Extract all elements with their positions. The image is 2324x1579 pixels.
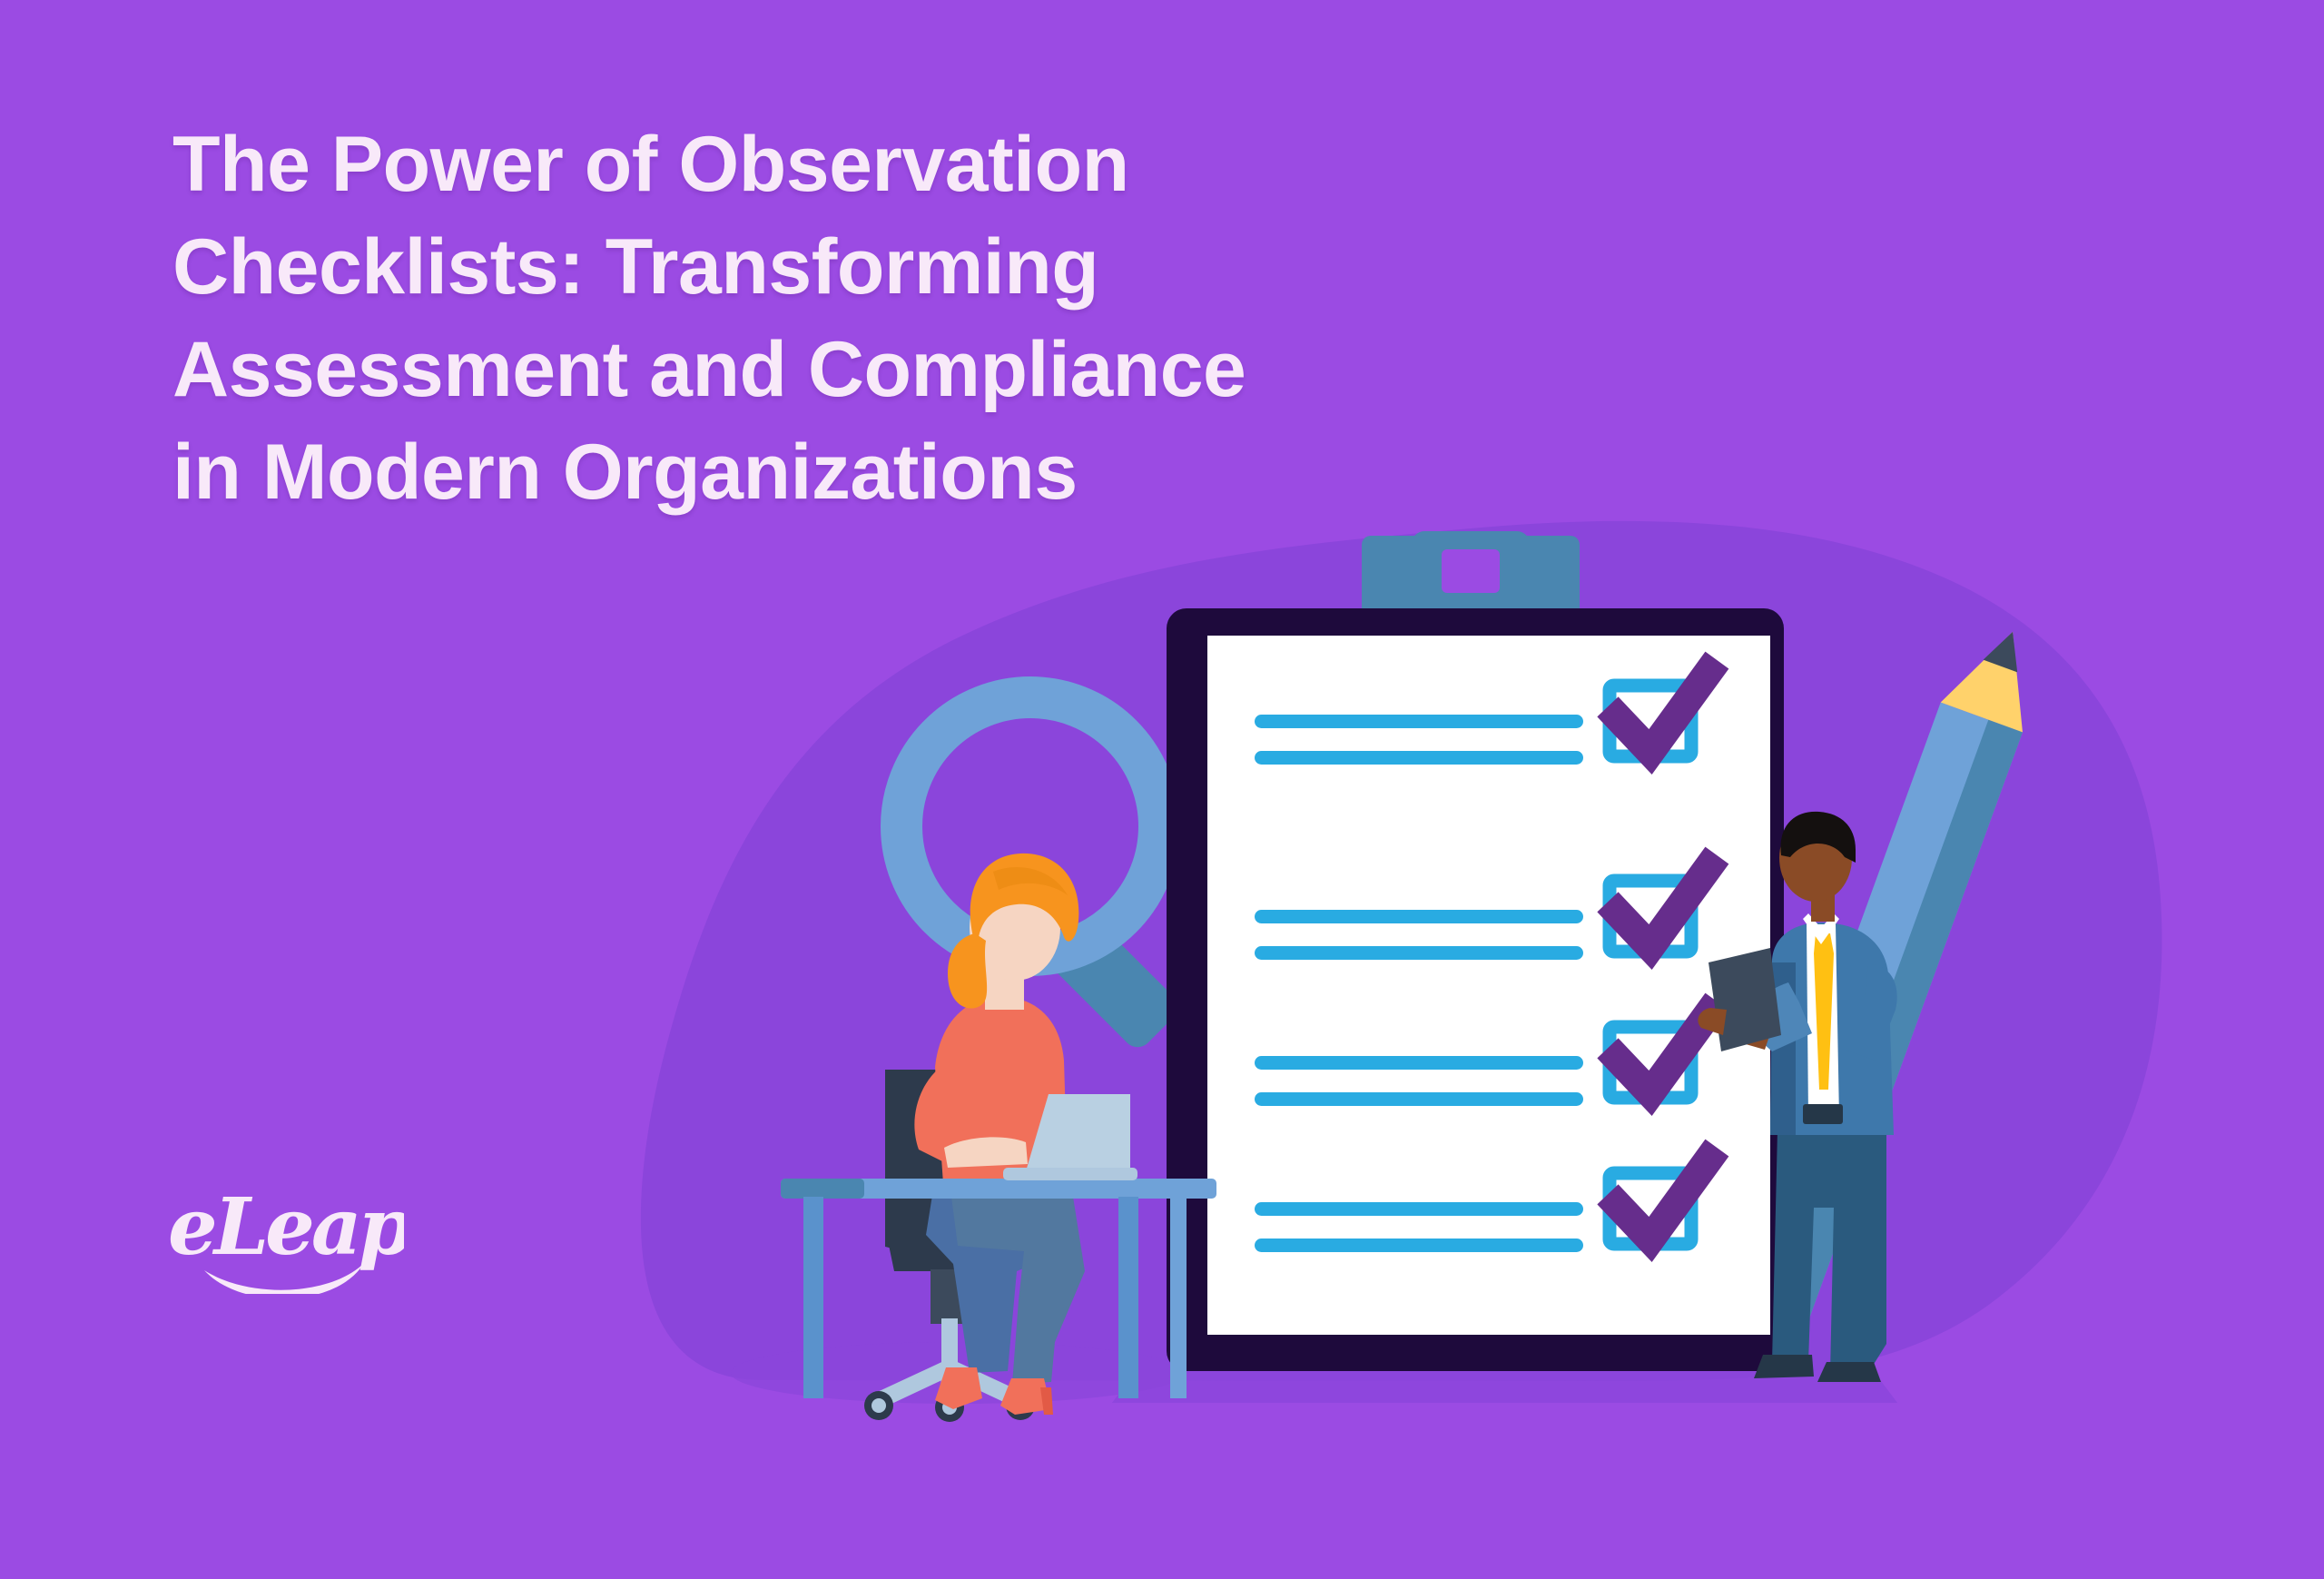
eleap-wordmark: eLeap bbox=[168, 1181, 404, 1273]
title-line-2: Checklists: Transforming bbox=[172, 216, 1589, 319]
man-belt bbox=[1803, 1104, 1843, 1124]
checklist-line bbox=[1255, 946, 1583, 960]
brand-logo[interactable]: eLeap bbox=[168, 1167, 404, 1294]
laptop-base bbox=[1003, 1168, 1137, 1180]
chair-wheel-hub bbox=[871, 1398, 886, 1413]
man-shoe-left bbox=[1754, 1355, 1814, 1378]
desk-leg bbox=[1170, 1197, 1187, 1398]
hero-banner: The Power of Observation Checklists: Tra… bbox=[0, 0, 2324, 1579]
man-shoe-right bbox=[1817, 1362, 1881, 1382]
eleap-logo-icon: eLeap bbox=[168, 1167, 404, 1294]
desk-leg bbox=[803, 1197, 823, 1398]
page-title: The Power of Observation Checklists: Tra… bbox=[172, 113, 1589, 524]
checklist-line bbox=[1255, 910, 1583, 923]
checklist-line bbox=[1255, 1056, 1583, 1070]
title-line-3: Assessment and Compliance bbox=[172, 319, 1589, 421]
checklist-line bbox=[1255, 715, 1583, 728]
checklist-line bbox=[1255, 1092, 1583, 1106]
title-line-4: in Modern Organizations bbox=[172, 421, 1589, 524]
desk-top-edge bbox=[781, 1179, 864, 1199]
checklist-line bbox=[1255, 1239, 1583, 1252]
clipboard bbox=[1167, 531, 1784, 1371]
checklist-line bbox=[1255, 1202, 1583, 1216]
title-line-1: The Power of Observation bbox=[172, 113, 1589, 216]
tablet[interactable] bbox=[1709, 948, 1781, 1051]
desk-leg bbox=[1118, 1197, 1138, 1398]
checklist-line bbox=[1255, 751, 1583, 765]
clipboard-clip-hole bbox=[1442, 549, 1500, 593]
